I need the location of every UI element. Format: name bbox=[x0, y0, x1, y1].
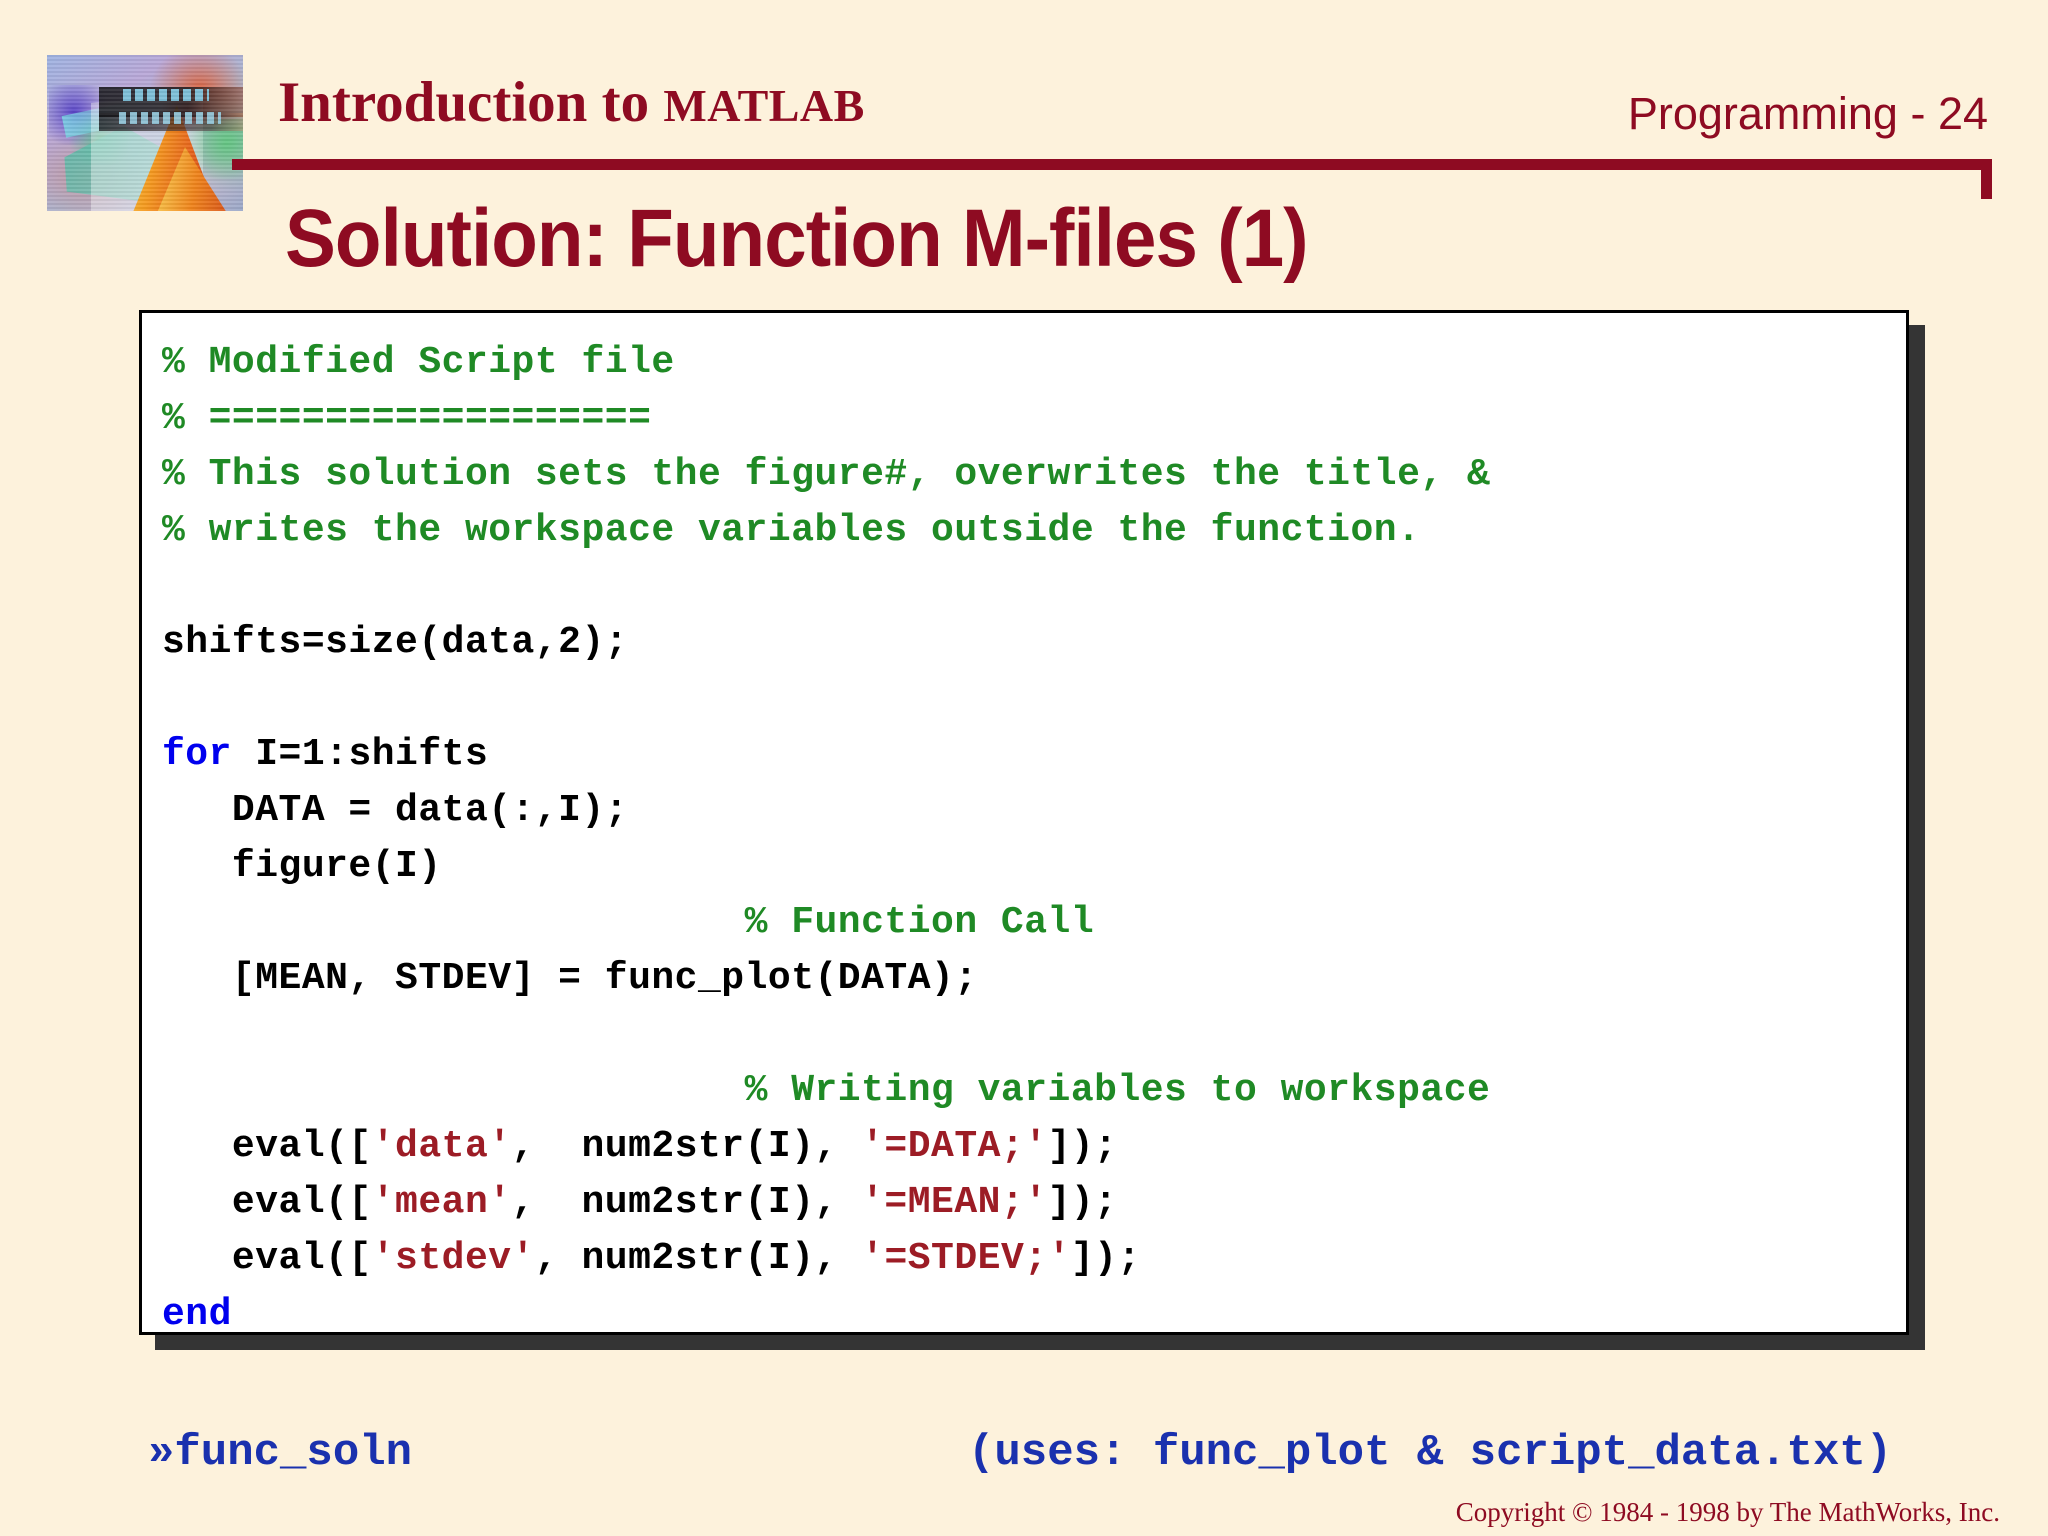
code-line: % =================== bbox=[162, 391, 1898, 447]
code-line: % Function Call bbox=[162, 895, 1898, 951]
code-token: % This solution sets the figure#, overwr… bbox=[162, 453, 1490, 496]
code-line bbox=[162, 1007, 1898, 1063]
code-line: % Modified Script file bbox=[162, 335, 1898, 391]
code-token: % Writing variables to workspace bbox=[162, 1069, 1490, 1112]
code-token: % Modified Script file bbox=[162, 341, 675, 384]
code-token: shifts=size(data,2); bbox=[162, 621, 628, 664]
command-prompt-demo-label: »func_soln bbox=[148, 1428, 412, 1478]
code-line: eval(['mean', num2str(I), '=MEAN;']); bbox=[162, 1175, 1898, 1231]
page-title: Solution: Function M-files (1) bbox=[285, 192, 1587, 286]
code-token: eval([ bbox=[162, 1237, 372, 1280]
code-token: eval([ bbox=[162, 1181, 372, 1224]
code-token: % =================== bbox=[162, 397, 651, 440]
section-and-page-label: Programming - 24 bbox=[1628, 88, 1988, 140]
code-line: eval(['stdev', num2str(I), '=STDEV;']); bbox=[162, 1231, 1898, 1287]
code-token: % writes the workspace variables outside… bbox=[162, 509, 1420, 552]
code-line: end bbox=[162, 1287, 1898, 1335]
code-token: ]); bbox=[1048, 1181, 1118, 1224]
demo-dependencies-label: (uses: func_plot & script_data.txt) bbox=[968, 1428, 1892, 1478]
code-line: % Writing variables to workspace bbox=[162, 1063, 1898, 1119]
course-title-main: Introduction to bbox=[278, 71, 663, 134]
code-token: '=MEAN;' bbox=[861, 1181, 1047, 1224]
code-token: eval([ bbox=[162, 1125, 372, 1168]
code-token: , num2str(I), bbox=[512, 1125, 862, 1168]
slide-header: Introduction to MATLAB Programming - 24 bbox=[0, 0, 2048, 200]
code-token: ]); bbox=[1071, 1237, 1141, 1280]
header-divider-rule bbox=[232, 159, 1992, 170]
code-line: % writes the workspace variables outside… bbox=[162, 503, 1898, 559]
code-token: ]); bbox=[1048, 1125, 1118, 1168]
code-token: 'stdev' bbox=[372, 1237, 535, 1280]
code-token: , num2str(I), bbox=[535, 1237, 861, 1280]
code-line: for I=1:shifts bbox=[162, 727, 1898, 783]
code-token: DATA = data(:,I); bbox=[162, 789, 628, 832]
code-token: % Function Call bbox=[162, 901, 1094, 944]
code-token: , num2str(I), bbox=[512, 1181, 862, 1224]
code-line bbox=[162, 671, 1898, 727]
code-listing: % Modified Script file% ================… bbox=[162, 335, 1898, 1335]
code-line: DATA = data(:,I); bbox=[162, 783, 1898, 839]
code-line: figure(I) bbox=[162, 839, 1898, 895]
code-token: I=1:shifts bbox=[232, 733, 488, 776]
code-listing-panel: % Modified Script file% ================… bbox=[139, 310, 1909, 1335]
copyright-notice: Copyright © 1984 - 1998 by The MathWorks… bbox=[1456, 1497, 2000, 1528]
code-token: end bbox=[162, 1293, 232, 1335]
code-line: [MEAN, STDEV] = func_plot(DATA); bbox=[162, 951, 1898, 1007]
course-title: Introduction to MATLAB bbox=[278, 70, 865, 135]
code-token: '=STDEV;' bbox=[861, 1237, 1071, 1280]
code-token: '=DATA;' bbox=[861, 1125, 1047, 1168]
code-token: figure(I) bbox=[162, 845, 442, 888]
code-line: % This solution sets the figure#, overwr… bbox=[162, 447, 1898, 503]
code-token: [MEAN, STDEV] = func_plot(DATA); bbox=[162, 957, 978, 1000]
code-line: shifts=size(data,2); bbox=[162, 615, 1898, 671]
matlab-membrane-logo-icon bbox=[47, 55, 243, 211]
code-line bbox=[162, 559, 1898, 615]
code-token: 'mean' bbox=[372, 1181, 512, 1224]
code-token: 'data' bbox=[372, 1125, 512, 1168]
code-token: for bbox=[162, 733, 232, 776]
header-divider-right-tick bbox=[1981, 159, 1992, 199]
course-title-brand: MATLAB bbox=[663, 80, 865, 131]
code-line: eval(['data', num2str(I), '=DATA;']); bbox=[162, 1119, 1898, 1175]
